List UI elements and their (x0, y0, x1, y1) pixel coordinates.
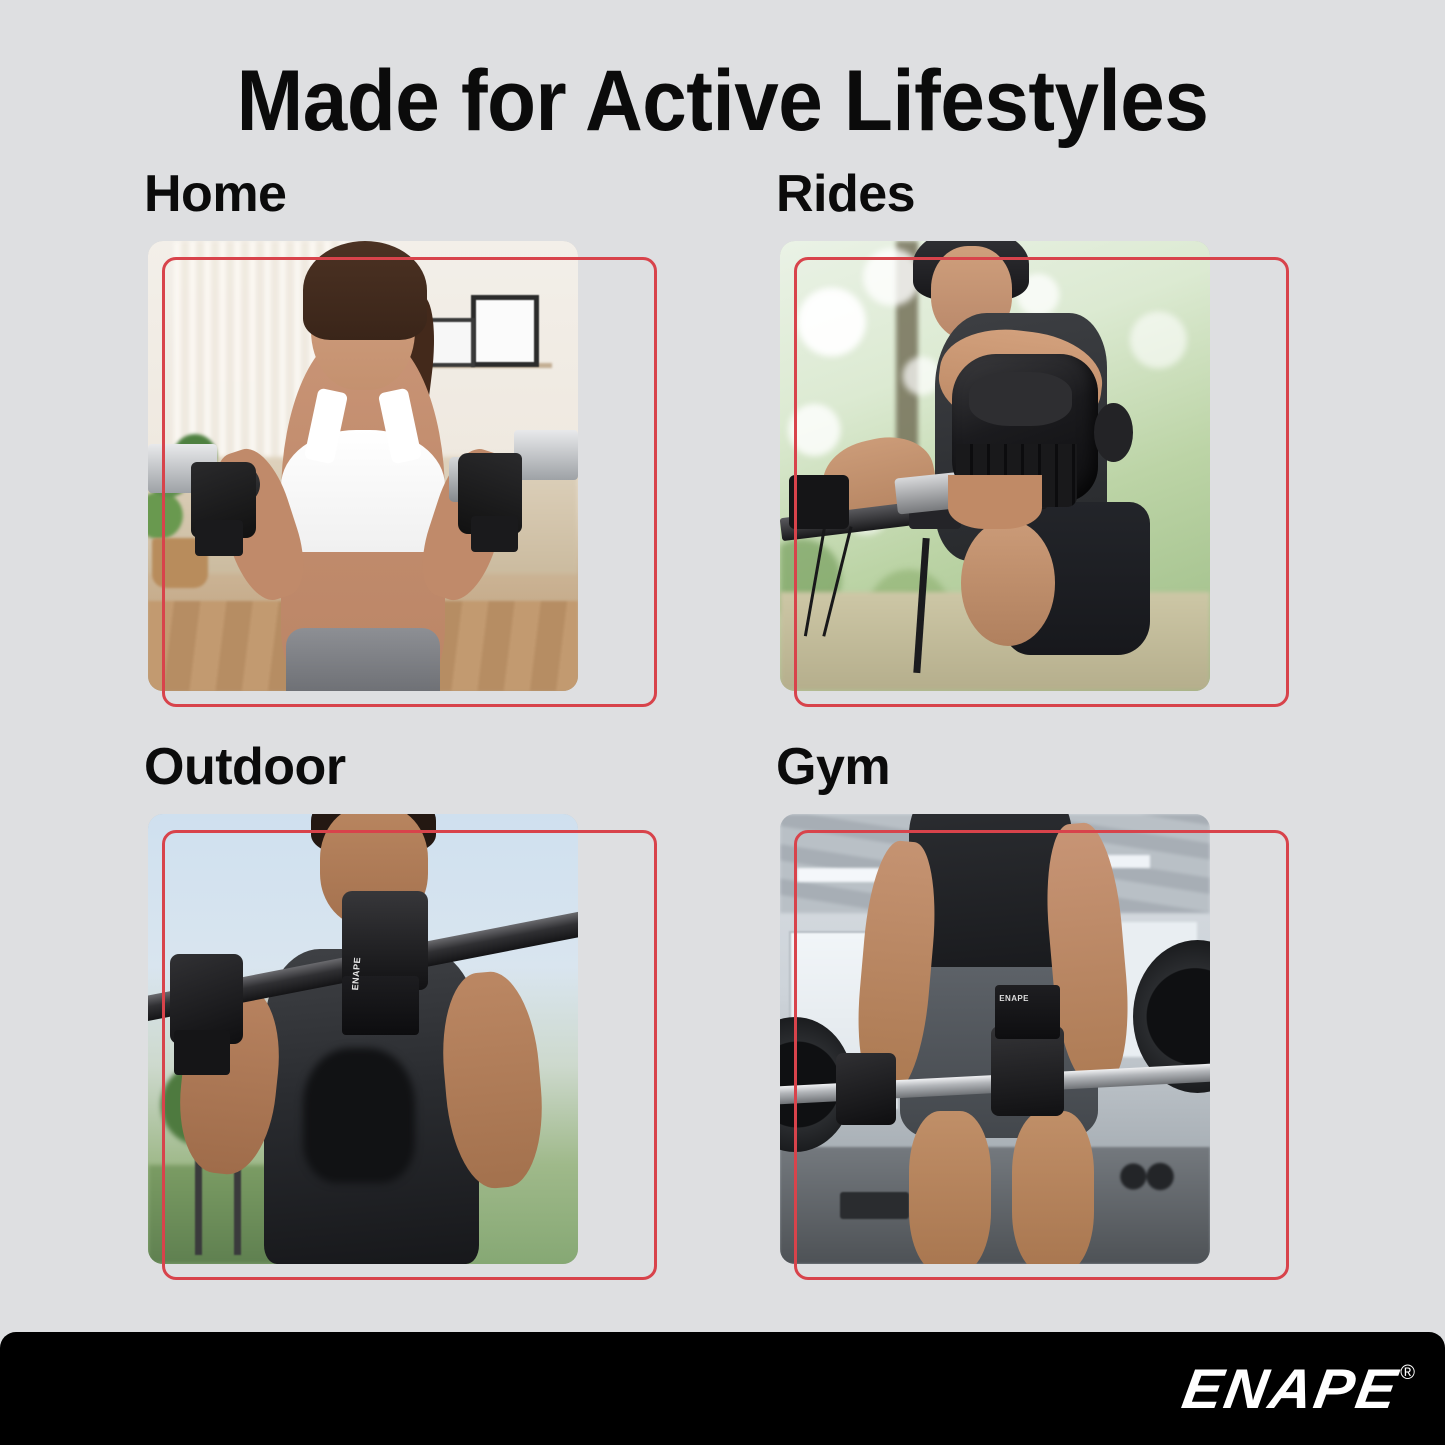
glove-product (789, 475, 849, 529)
scene-gym: ENAPE (780, 814, 1210, 1264)
photo-outdoor: ENAPE (148, 814, 578, 1264)
scene-home (148, 241, 578, 691)
brand-bar: ENAPE ® (0, 1332, 1445, 1445)
panel-label-gym: Gym (776, 741, 890, 793)
panel-outdoor[interactable]: Outdoor ENAPE (140, 741, 670, 1286)
enape-logo: ENAPE (1179, 1361, 1403, 1417)
scene-rides (780, 241, 1210, 691)
registered-trademark-icon: ® (1400, 1363, 1415, 1383)
panel-gym[interactable]: Gym (772, 741, 1302, 1286)
glove-product (836, 1053, 896, 1125)
photo-home (148, 241, 578, 691)
panel-label-outdoor: Outdoor (144, 741, 346, 793)
glove-product (991, 1026, 1064, 1116)
photo-gym: ENAPE (780, 814, 1210, 1264)
panel-home[interactable]: Home (140, 168, 670, 713)
photo-rides (780, 241, 1210, 691)
scene-outdoor: ENAPE (148, 814, 578, 1264)
panel-label-rides: Rides (776, 168, 915, 220)
glove-brand-logo: ENAPE (999, 994, 1029, 1003)
page-title: Made for Active Lifestyles (51, 58, 1395, 144)
panel-rides[interactable]: Rides (772, 168, 1302, 713)
lifestyle-panel-grid: Home (0, 168, 1445, 1308)
panel-label-home: Home (144, 168, 286, 220)
brand-logo-group: ENAPE ® (1183, 1361, 1415, 1417)
